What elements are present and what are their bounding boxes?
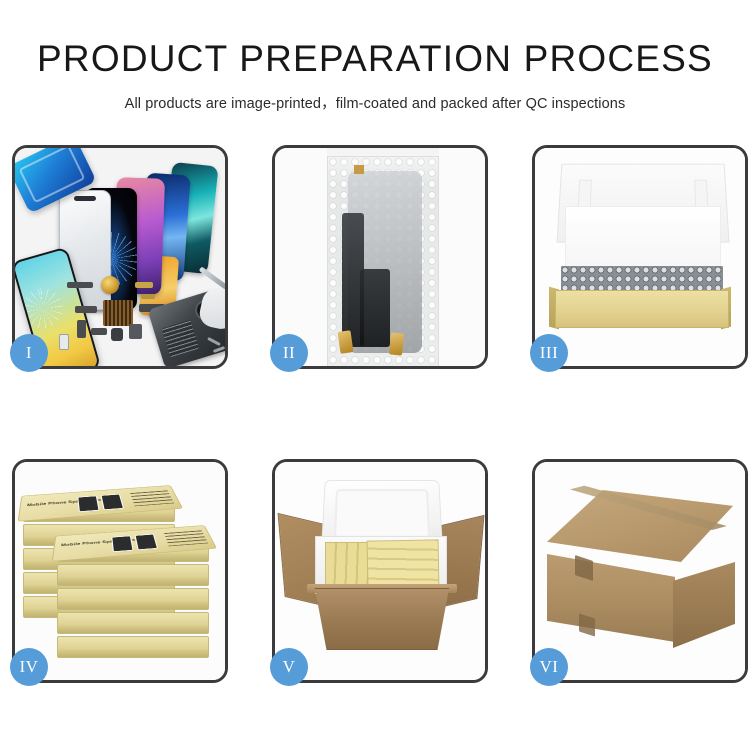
connector-part-5 [77,320,86,338]
carton-front-face [547,554,675,642]
carton-packing-scene [275,462,485,680]
step-1-image [15,148,225,366]
process-steps-grid: I II [12,145,740,683]
connector-part-3 [141,294,155,299]
header: PRODUCT PREPARATION PROCESS All products… [0,0,750,113]
box-stack: Mobile Phone Spare Parts Mobile Phone Sp… [23,478,223,674]
step-panel-2: II [272,145,488,369]
box-window-2 [135,534,158,550]
coil-part-icon [101,276,119,294]
step-badge-6: VI [530,648,568,686]
step-6-image [535,462,745,680]
step-4-image: Mobile Phone Spare Parts Mobile Phone Sp… [15,462,225,680]
step-badge-4: IV [10,648,48,686]
phones-and-parts-scene [15,148,225,366]
sealed-carton-scene [535,462,745,680]
gold-connector-right [389,332,404,355]
carton-body [309,588,455,650]
white-foam-sheet [565,206,721,268]
step-panel-4: Mobile Phone Spare Parts Mobile Phone Sp… [12,459,228,683]
box-window-1 [77,496,99,512]
page-subtitle: All products are image-printed，film-coat… [0,92,750,113]
connector-part-2 [135,282,153,288]
yellow-boxes-row-2 [367,539,440,588]
step-badge-3: III [530,334,568,372]
bubble-wrap-scene [275,148,485,366]
carton-side-face [673,562,735,648]
battery-part [129,324,142,339]
stacked-box [57,612,209,634]
box-window-2 [101,494,124,510]
stacked-box [57,588,209,610]
box-window-1 [111,536,133,552]
step-panel-6: VI [532,459,748,683]
step-3-image [535,148,745,366]
step-panel-5: V [272,459,488,683]
carton-tab-lower [579,613,595,636]
page-title: PRODUCT PREPARATION PROCESS [0,38,750,81]
step-badge-1: I [10,334,48,372]
stacked-box [57,564,209,586]
step-5-image [275,462,485,680]
camera-part [111,328,123,341]
flex-cable-right [360,269,390,347]
box-spec-lines [164,530,209,548]
box-spec-lines [130,490,175,508]
tweezers-tool [199,266,225,290]
step-badge-2: II [270,334,308,372]
stacked-box [57,636,209,658]
step-panel-3: III [532,145,748,369]
gold-tab-top [354,165,364,174]
connector-part-4 [75,306,97,313]
connector-part-1 [67,282,93,288]
connector-part-6 [91,328,107,335]
box-front-panel [555,290,729,328]
stacked-boxes-scene: Mobile Phone Spare Parts Mobile Phone Sp… [15,462,225,680]
inner-box-scene [535,148,745,366]
step-badge-5: V [270,648,308,686]
sim-tray-part [59,334,69,350]
step-panel-1: I [12,145,228,369]
product-preparation-infographic: PRODUCT PREPARATION PROCESS All products… [0,0,750,750]
chip-grid-part [103,300,133,326]
step-2-image [275,148,485,366]
bubble-wrap-bag [327,156,439,366]
